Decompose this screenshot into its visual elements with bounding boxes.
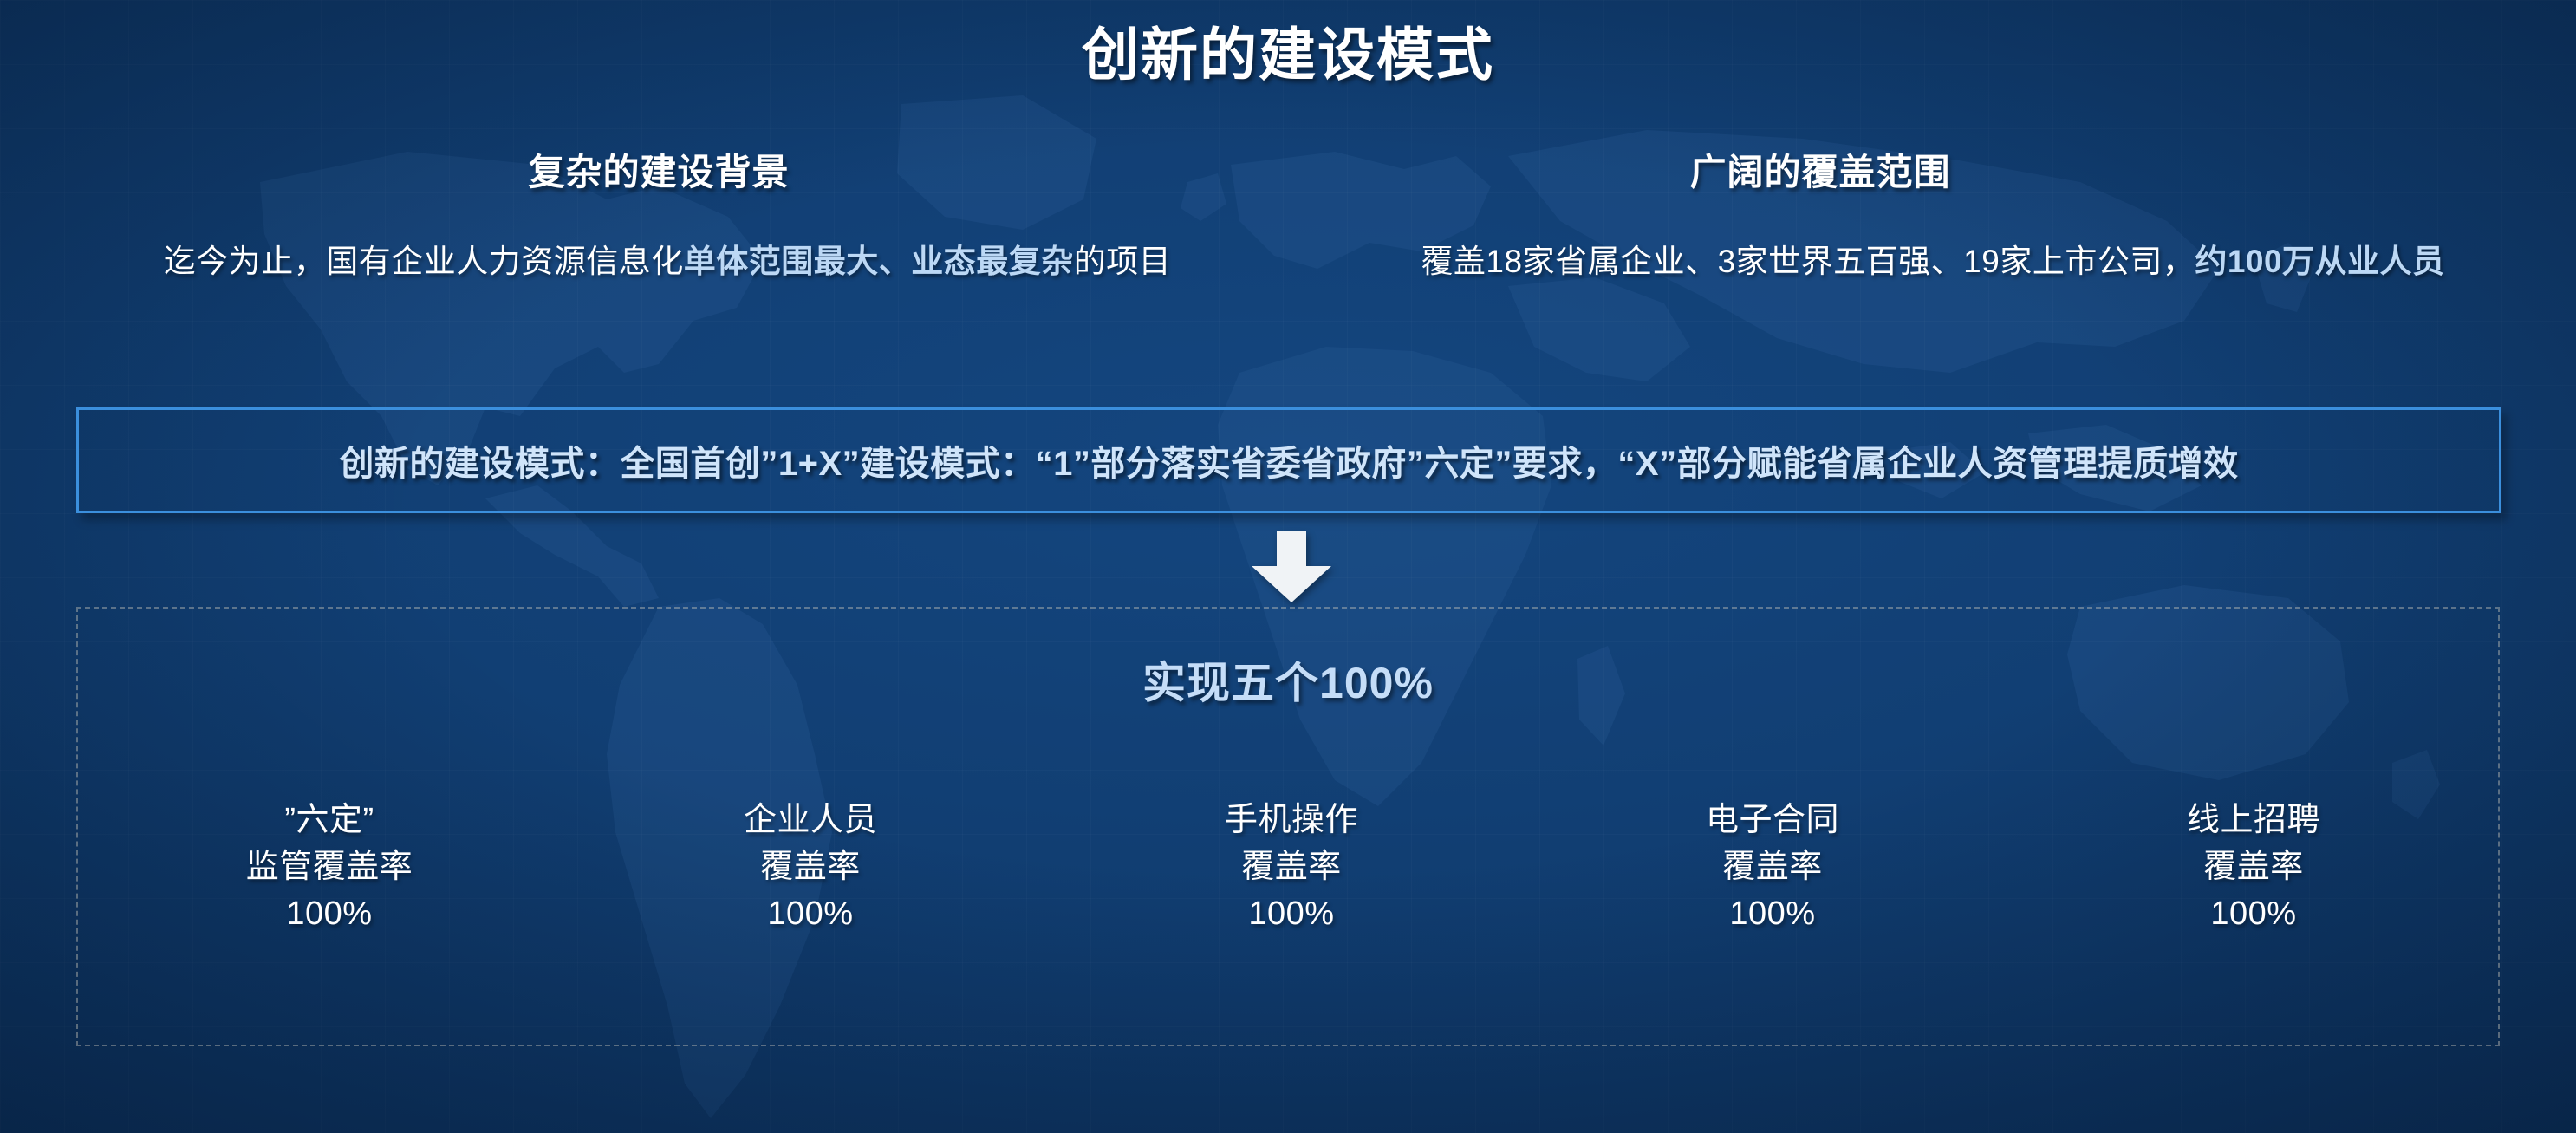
construction-model-banner: 创新的建设模式：全国首创”1+X”建设模式：“1”部分落实省委省政府”六定”要求… [76,407,2501,513]
stat-value: 100% [95,891,563,938]
banner-text: 创新的建设模式：全国首创”1+X”建设模式：“1”部分落实省委省政府”六定”要求… [339,435,2238,485]
stat-value: 100% [1538,891,2007,938]
stat-value: 100% [576,891,1044,938]
stat-item: ”六定” 监管覆盖率 100% [95,798,563,938]
right-body-prefix: 覆盖18家省属企业、3家世界五百强、19家上市公司， [1421,244,2195,279]
stat-line1: 手机操作 [1057,798,1525,844]
right-column-heading: 广阔的覆盖范围 [1387,143,2254,196]
stat-item: 电子合同 覆盖率 100% [1538,798,2007,938]
stat-line2: 覆盖率 [1538,844,2007,891]
stat-line1: 企业人员 [576,798,1044,844]
panel-title: 实现五个100% [0,648,2576,711]
stat-line2: 覆盖率 [1057,844,1525,891]
left-body-suffix: 的项目 [1074,244,1172,279]
stat-line1: 电子合同 [1538,798,2007,844]
right-body-highlight: 约100万从业人员 [2195,244,2444,279]
stats-row: ”六定” 监管覆盖率 100% 企业人员 覆盖率 100% 手机操作 覆盖率 1… [95,798,2488,938]
left-column-body: 迄今为止，国有企业人力资源信息化单体范围最大、业态最复杂的项目 [52,241,1283,283]
stat-line1: 线上招聘 [2020,798,2488,844]
slide-root: 创新的建设模式 复杂的建设背景 迄今为止，国有企业人力资源信息化单体范围最大、业… [0,0,2576,1133]
page-title: 创新的建设模式 [0,9,2576,92]
stat-item: 线上招聘 覆盖率 100% [2020,798,2488,938]
stat-line2: 覆盖率 [2020,844,2488,891]
arrow-down-icon [1252,531,1331,602]
stat-value: 100% [1057,891,1525,938]
stat-value: 100% [2020,891,2488,938]
stat-line2: 覆盖率 [576,844,1044,891]
stat-item: 企业人员 覆盖率 100% [576,798,1044,938]
stat-item: 手机操作 覆盖率 100% [1057,798,1525,938]
stat-line2: 监管覆盖率 [95,844,563,891]
stat-line1: ”六定” [95,798,563,844]
slide-content: 创新的建设模式 复杂的建设背景 迄今为止，国有企业人力资源信息化单体范围最大、业… [0,0,2576,1133]
left-body-prefix: 迄今为止，国有企业人力资源信息化 [164,244,684,279]
left-body-highlight: 单体范围最大、业态最复杂 [684,244,1074,279]
left-column-heading: 复杂的建设背景 [286,143,1031,196]
right-column-body: 覆盖18家省属企业、3家世界五百强、19家上市公司，约100万从业人员 [1335,241,2531,283]
